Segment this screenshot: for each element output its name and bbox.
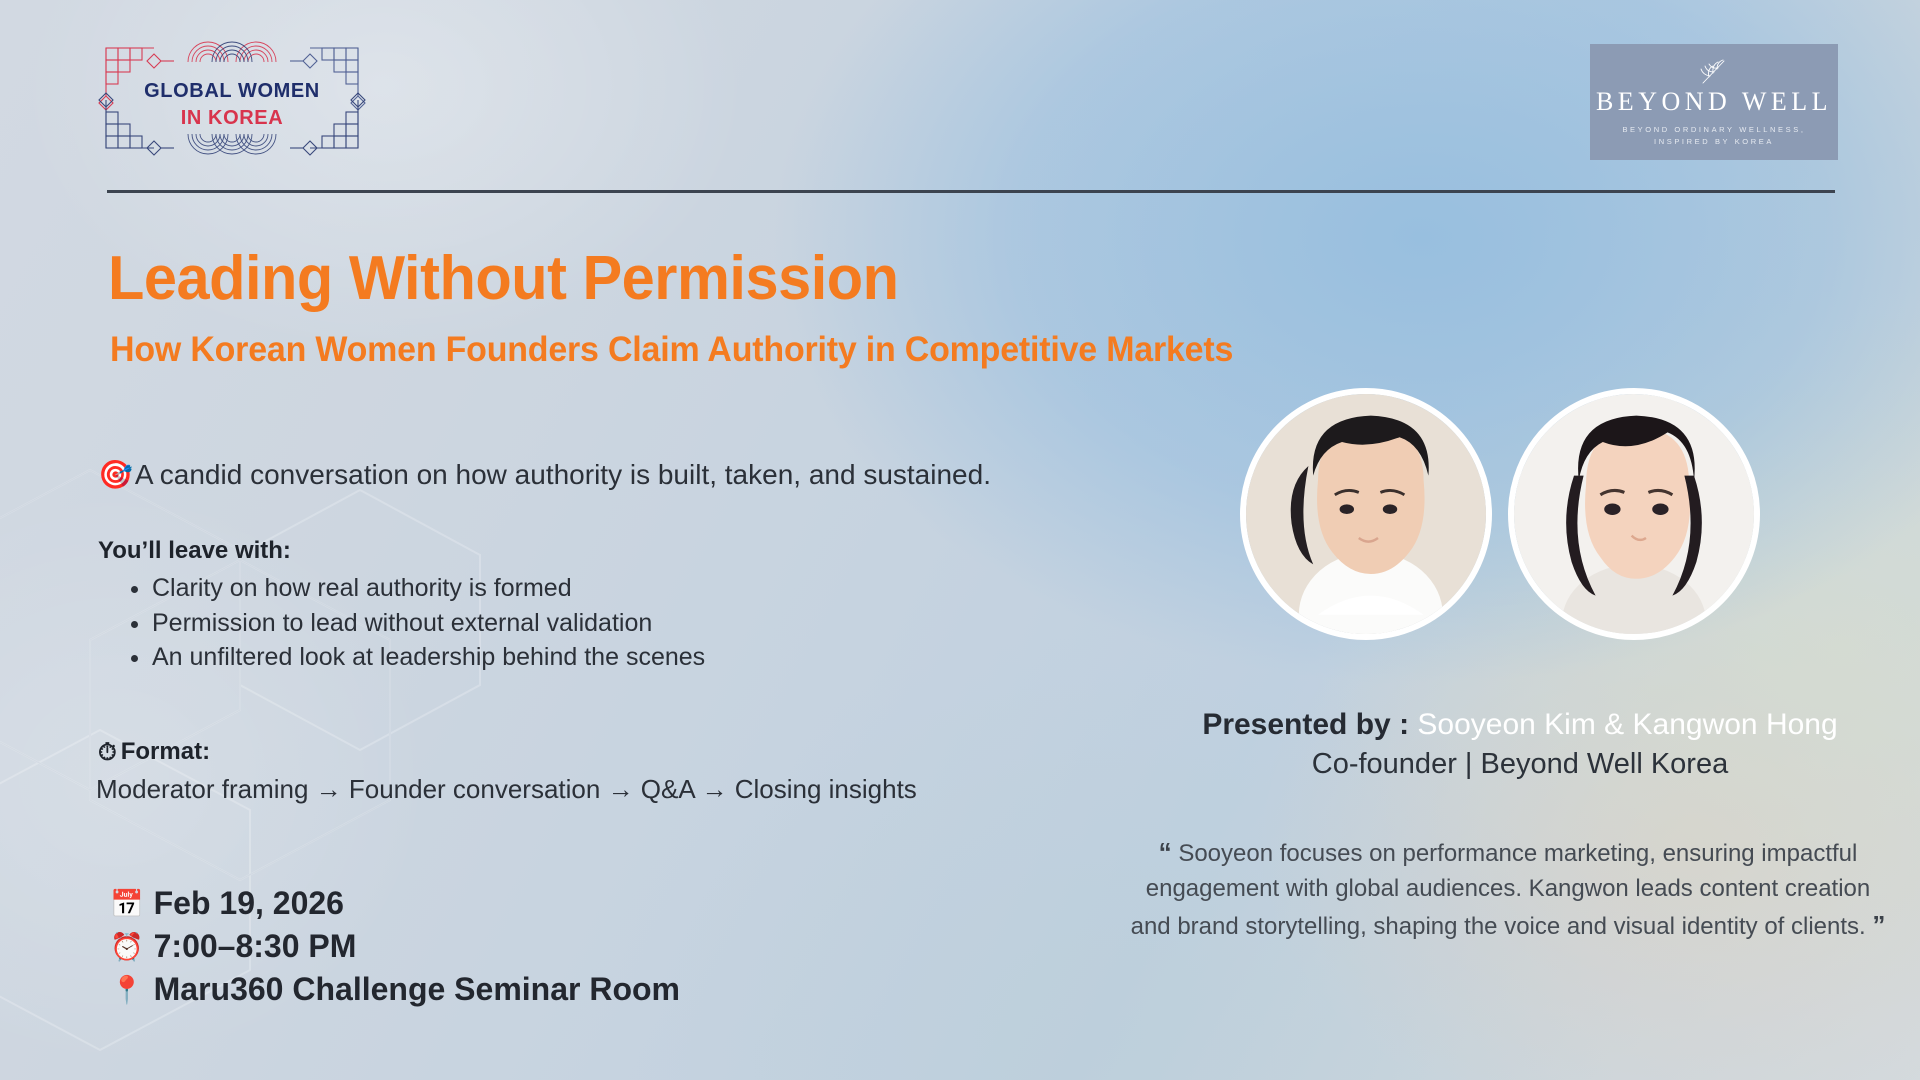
event-time: 7:00–8:30 PM (154, 928, 357, 965)
calendar-icon: 📅 (110, 888, 144, 920)
gw-logo-line1: GLOBAL WOMEN (144, 80, 320, 102)
event-date: Feb 19, 2026 (154, 885, 344, 922)
beyond-well-logo: BEYOND WELL BEYOND ORDINARY WELLNESS, IN… (1590, 44, 1838, 160)
beyond-well-tagline: BEYOND ORDINARY WELLNESS, INSPIRED BY KO… (1622, 124, 1805, 148)
speaker-names: Sooyeon Kim & Kangwon Hong (1417, 708, 1837, 741)
beyond-well-tagline-line2: INSPIRED BY KOREA (1622, 136, 1805, 148)
page-subtitle: How Korean Women Founders Claim Authorit… (110, 330, 1233, 370)
event-location-row: 📍 Maru360 Challenge Seminar Room (110, 971, 680, 1008)
quote-text: Sooyeon focuses on performance marketing… (1131, 840, 1871, 940)
gw-logo-line2: IN KOREA (181, 107, 284, 129)
speaker-bio-quote: “ Sooyeon focuses on performance marketi… (1128, 834, 1888, 944)
beyond-well-name: BEYOND WELL (1596, 88, 1832, 117)
presented-by: Presented by : Sooyeon Kim & Kangwon Hon… (1180, 708, 1860, 742)
takeaways-heading: You’ll leave with: (98, 537, 291, 565)
lede-text: A candid conversation on how authority i… (135, 459, 991, 491)
event-details: 📅 Feb 19, 2026 ⏰ 7:00–8:30 PM 📍 Maru360 … (110, 885, 680, 1008)
presented-by-label: Presented by (1202, 708, 1390, 741)
avatar (1508, 388, 1760, 640)
quote-close-icon: ” (1872, 910, 1885, 940)
list-item: Permission to lead without external vali… (152, 607, 705, 641)
event-time-row: ⏰ 7:00–8:30 PM (110, 928, 680, 965)
speaker-role: Co-founder | Beyond Well Korea (1180, 748, 1860, 781)
lede-line: 🎯 A candid conversation on how authority… (98, 458, 991, 491)
event-date-row: 📅 Feb 19, 2026 (110, 885, 680, 922)
target-icon: 🎯 (98, 458, 133, 491)
event-location: Maru360 Challenge Seminar Room (154, 971, 680, 1008)
list-item: An unfiltered look at leadership behind … (152, 641, 705, 675)
format-heading: ⏱ Format: (98, 738, 210, 766)
leaf-icon (1697, 56, 1731, 86)
format-heading-label: Format: (121, 738, 210, 766)
format-flow: Moderator framing → Founder conversation… (96, 774, 917, 805)
page-title: Leading Without Permission (108, 243, 899, 314)
presented-by-separator: : (1391, 708, 1418, 741)
global-women-in-korea-logo: GLOBAL WOMEN IN KOREA (96, 34, 368, 162)
event-poster: GLOBAL WOMEN IN KOREA BEYOND WELL BEYOND… (0, 0, 1920, 1080)
takeaways-list: Clarity on how real authority is formed … (120, 572, 705, 676)
alarm-clock-icon: ⏰ (110, 931, 144, 963)
list-item: Clarity on how real authority is formed (152, 572, 705, 606)
speaker-portraits (1240, 388, 1760, 640)
quote-open-icon: “ (1159, 837, 1172, 867)
avatar (1240, 388, 1492, 640)
stopwatch-icon: ⏱ (98, 738, 117, 766)
header-divider (107, 190, 1835, 193)
map-pin-icon: 📍 (110, 974, 144, 1006)
beyond-well-tagline-line1: BEYOND ORDINARY WELLNESS, (1622, 124, 1805, 136)
